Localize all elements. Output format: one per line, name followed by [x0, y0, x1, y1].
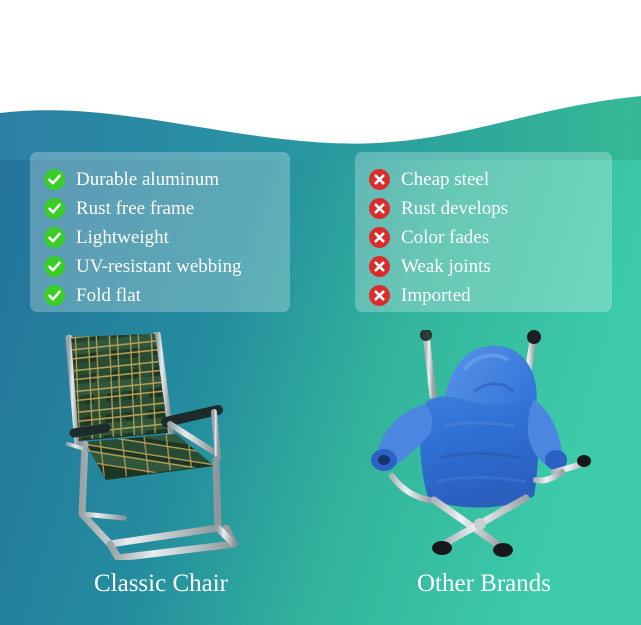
list-item: Weak joints — [369, 253, 612, 280]
product-image-other-brands-chair — [348, 330, 598, 560]
cross-circle-icon — [369, 198, 390, 219]
list-item-label: Imported — [401, 285, 471, 306]
cross-circle-icon — [369, 227, 390, 248]
list-item-label: Cheap steel — [401, 169, 489, 190]
check-circle-icon — [44, 198, 65, 219]
list-item-label: Rust free frame — [76, 198, 194, 219]
list-item: Color fades — [369, 224, 612, 251]
list-item: Lightweight — [44, 224, 290, 251]
list-item-label: UV-resistant webbing — [76, 256, 242, 277]
caption-classic-chair: Classic Chair — [30, 570, 292, 598]
list-item: Rust free frame — [44, 195, 290, 222]
list-item-label: Rust develops — [401, 198, 508, 219]
comparison-infographic: Tired of replacing your cheap camping ch… — [0, 0, 641, 625]
pros-feature-list: Durable aluminum Rust free frame Lightwe… — [30, 152, 290, 309]
list-item-label: Weak joints — [401, 256, 491, 277]
cross-circle-icon — [369, 256, 390, 277]
cons-feature-list: Cheap steel Rust develops Color fades We… — [355, 152, 612, 309]
cross-circle-icon — [369, 169, 390, 190]
pros-panel: Durable aluminum Rust free frame Lightwe… — [30, 152, 290, 312]
list-item-label: Lightweight — [76, 227, 169, 248]
list-item-label: Color fades — [401, 227, 489, 248]
check-circle-icon — [44, 285, 65, 306]
list-item: Cheap steel — [369, 166, 612, 193]
list-item: Durable aluminum — [44, 166, 290, 193]
list-item-label: Durable aluminum — [76, 169, 219, 190]
check-circle-icon — [44, 256, 65, 277]
check-circle-icon — [44, 169, 65, 190]
list-item: UV-resistant webbing — [44, 253, 290, 280]
list-item-label: Fold flat — [76, 285, 141, 306]
list-item: Fold flat — [44, 282, 290, 309]
check-circle-icon — [44, 227, 65, 248]
list-item: Rust develops — [369, 195, 612, 222]
product-image-classic-chair — [58, 332, 283, 560]
cons-panel: Cheap steel Rust develops Color fades We… — [355, 152, 612, 312]
list-item: Imported — [369, 282, 612, 309]
caption-other-brands: Other Brands — [355, 570, 613, 598]
cross-circle-icon — [369, 285, 390, 306]
